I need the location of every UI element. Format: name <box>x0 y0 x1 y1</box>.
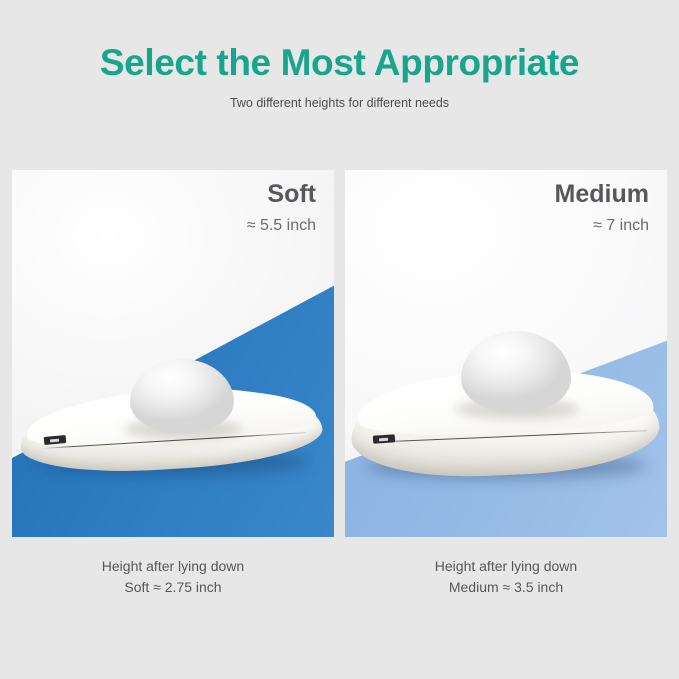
panel-height-soft: ≈ 5.5 inch <box>247 217 316 235</box>
caption-soft: Height after lying down Soft ≈ 2.75 inch <box>12 556 334 598</box>
page-subtitle: Two different heights for different need… <box>0 96 679 110</box>
comparison-panels: Soft ≈ 5.5 inch Medium ≈ 7 inch <box>0 170 679 538</box>
pillow-brand-tag <box>373 434 396 444</box>
head-weight-dome <box>130 359 234 433</box>
panel-label-medium: Medium <box>555 180 649 209</box>
panel-soft: Soft ≈ 5.5 inch <box>12 170 334 537</box>
caption-medium-line2: Medium ≈ 3.5 inch <box>345 577 667 598</box>
caption-medium: Height after lying down Medium ≈ 3.5 inc… <box>345 556 667 598</box>
caption-soft-line1: Height after lying down <box>12 556 334 577</box>
header: Select the Most Appropriate Two differen… <box>0 0 679 160</box>
caption-medium-line1: Height after lying down <box>345 556 667 577</box>
caption-soft-line2: Soft ≈ 2.75 inch <box>12 577 334 598</box>
head-weight-dome <box>461 331 571 413</box>
panel-medium: Medium ≈ 7 inch <box>345 170 667 537</box>
panel-height-medium: ≈ 7 inch <box>593 217 649 235</box>
panel-label-soft: Soft <box>267 180 316 209</box>
page-title: Select the Most Appropriate <box>0 42 679 84</box>
